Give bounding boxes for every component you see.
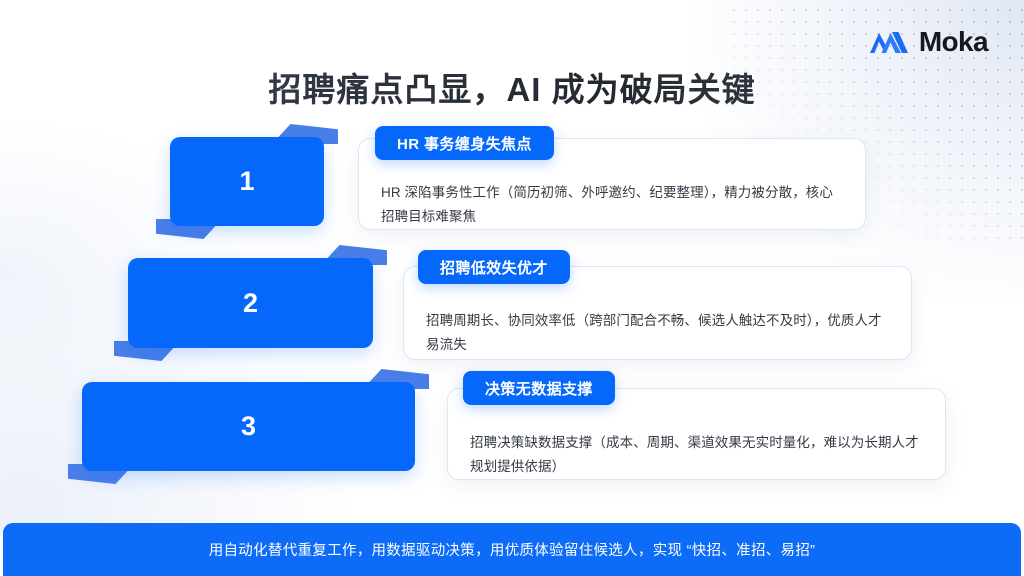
- footer-banner: 用自动化替代重复工作，用数据驱动决策，用优质体验留住候选人，实现 “快招、准招、…: [3, 523, 1021, 576]
- number-label: 1: [239, 168, 254, 195]
- slide-canvas: Moka 招聘痛点凸显，AI 成为破局关键 1 HR 深陷事务性工作（简历初筛、…: [0, 0, 1024, 576]
- number-label: 3: [241, 413, 256, 440]
- footer-text: 用自动化替代重复工作，用数据驱动决策，用优质体验留住候选人，实现 “快招、准招、…: [209, 539, 816, 560]
- card-body-text: 招聘周期长、协同效率低（跨部门配合不畅、候选人触达不及时），优质人才易流失: [426, 309, 891, 356]
- card-body-text: HR 深陷事务性工作（简历初筛、外呼邀约、纪要整理），精力被分散，核心招聘目标难…: [381, 181, 845, 228]
- number-block-box: 3: [82, 382, 415, 471]
- number-block-1: 1: [170, 137, 324, 226]
- card-badge-3: 决策无数据支撑: [463, 371, 615, 405]
- number-block-box: 1: [170, 137, 324, 226]
- card-body-text: 招聘决策缺数据支撑（成本、周期、渠道效果无实时量化，难以为长期人才规划提供依据）: [470, 431, 925, 478]
- number-block-2: 2: [128, 258, 373, 348]
- number-label: 2: [243, 290, 258, 317]
- card-badge-2: 招聘低效失优才: [418, 250, 570, 284]
- number-block-box: 2: [128, 258, 373, 348]
- moka-mountain-logo-icon: [868, 28, 910, 56]
- number-block-3: 3: [82, 382, 415, 471]
- page-title: 招聘痛点凸显，AI 成为破局关键: [0, 63, 1024, 111]
- card-badge-1: HR 事务缠身失焦点: [375, 126, 554, 160]
- brand-logo: Moka: [868, 28, 988, 56]
- brand-logo-text: Moka: [919, 28, 988, 56]
